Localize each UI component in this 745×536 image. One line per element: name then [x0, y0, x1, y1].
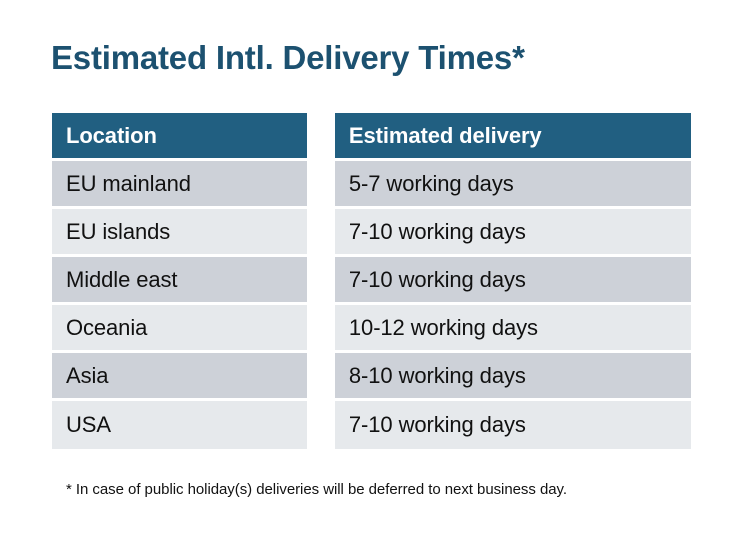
delivery-times-table: Location Estimated delivery EU mainland … — [52, 113, 691, 449]
table-row: EU islands 7-10 working days — [52, 209, 691, 257]
cell-location: Middle east — [52, 257, 307, 305]
cell-estimated-delivery: 7-10 working days — [335, 209, 691, 257]
column-gutter — [307, 305, 335, 353]
column-gutter — [307, 161, 335, 209]
cell-location: USA — [52, 401, 307, 449]
delivery-times-card: Estimated Intl. Delivery Times* Location… — [0, 0, 745, 536]
table-row: USA 7-10 working days — [52, 401, 691, 449]
column-gutter — [307, 113, 335, 161]
cell-location: EU mainland — [52, 161, 307, 209]
cell-estimated-delivery: 10-12 working days — [335, 305, 691, 353]
cell-estimated-delivery: 8-10 working days — [335, 353, 691, 401]
table-row: Asia 8-10 working days — [52, 353, 691, 401]
table-row: Middle east 7-10 working days — [52, 257, 691, 305]
table-row: Oceania 10-12 working days — [52, 305, 691, 353]
cell-estimated-delivery: 7-10 working days — [335, 401, 691, 449]
column-header-location: Location — [52, 113, 307, 161]
footnote-text: * In case of public holiday(s) deliverie… — [66, 480, 567, 500]
table-row: EU mainland 5-7 working days — [52, 161, 691, 209]
table-header: Location Estimated delivery — [52, 113, 691, 161]
column-gutter — [307, 401, 335, 449]
column-gutter — [307, 209, 335, 257]
column-gutter — [307, 257, 335, 305]
cell-estimated-delivery: 5-7 working days — [335, 161, 691, 209]
cell-location: Oceania — [52, 305, 307, 353]
table-body: EU mainland 5-7 working days EU islands … — [52, 161, 691, 449]
cell-location: EU islands — [52, 209, 307, 257]
column-gutter — [307, 353, 335, 401]
cell-estimated-delivery: 7-10 working days — [335, 257, 691, 305]
column-header-estimated-delivery: Estimated delivery — [335, 113, 691, 161]
cell-location: Asia — [52, 353, 307, 401]
table-header-row: Location Estimated delivery — [52, 113, 691, 161]
page-title: Estimated Intl. Delivery Times* — [51, 38, 525, 78]
